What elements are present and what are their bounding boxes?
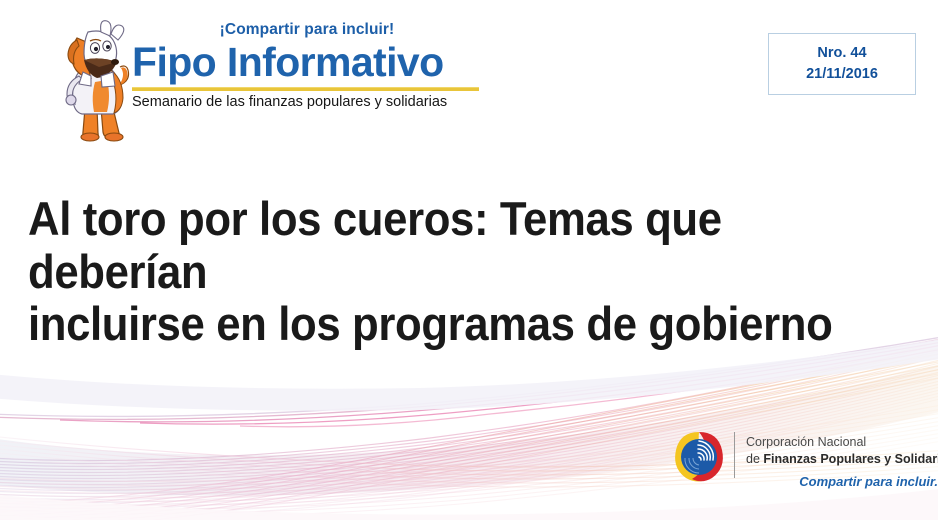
- brand-kicker: ¡Compartir para incluir!: [132, 22, 482, 38]
- corporate-name: Corporación Nacional de Finanzas Popular…: [746, 434, 938, 468]
- brand-block: ¡Compartir para incluir! Fipo Informativ…: [132, 22, 482, 111]
- gold-divider: [132, 87, 479, 91]
- corporate-name-prefix: de: [746, 452, 763, 466]
- corporate-logo-block: Corporación Nacional de Finanzas Popular…: [672, 428, 938, 508]
- mascot-dog-lab-coat-icon: [55, 20, 137, 142]
- issue-date: 21/11/2016: [806, 64, 878, 85]
- issue-number: Nro. 44: [817, 43, 866, 64]
- corporate-name-line2: de Finanzas Populares y Solidarias: [746, 451, 938, 468]
- brand-subtitle: Semanario de las finanzas populares y so…: [132, 95, 482, 111]
- conafips-spiral-emblem-icon: [672, 430, 726, 484]
- newsletter-page: ¡Compartir para incluir! Fipo Informativ…: [0, 0, 938, 520]
- issue-number-box: Nro. 44 21/11/2016: [768, 33, 916, 95]
- corporate-name-line1: Corporación Nacional: [746, 434, 938, 451]
- logo-divider: [734, 432, 735, 478]
- corporate-tagline: Compartir para incluir.: [799, 474, 938, 489]
- brand-title: Fipo Informativo: [132, 42, 482, 84]
- masthead: ¡Compartir para incluir! Fipo Informativ…: [0, 0, 938, 150]
- corporate-name-emphasis: Finanzas Populares y Solidarias: [763, 452, 938, 466]
